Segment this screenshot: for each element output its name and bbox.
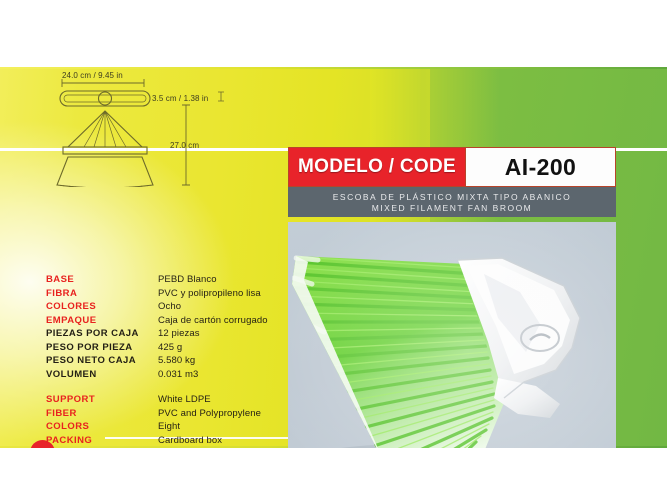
spec-label: SUPPORT	[46, 393, 158, 407]
subtitle-spanish: ESCOBA DE PLÁSTICO MIXTA TIPO ABANICO	[333, 192, 571, 202]
spec-value: PVC y polipropileno lisa	[158, 287, 261, 301]
spec-value: 425 g	[158, 341, 182, 355]
product-photo	[288, 222, 616, 448]
spec-value: PEBD Blanco	[158, 273, 217, 287]
spec-label: FIBER	[46, 407, 158, 421]
spec-row: COLORESOcho	[46, 300, 268, 314]
spec-row: FIBRAPVC y polipropileno lisa	[46, 287, 268, 301]
spec-value: Eight	[158, 420, 180, 434]
model-code-label: MODELO / CODE	[298, 156, 456, 178]
model-code-value: AI-200	[505, 154, 576, 181]
model-code-header: MODELO / CODE AI-200	[288, 147, 616, 187]
dimension-width-label: 24.0 cm / 9.45 in	[62, 71, 123, 80]
spec-row: FIBERPVC and Polypropylene	[46, 407, 261, 421]
subtitle-english: MIXED FILAMENT FAN BROOM	[372, 203, 533, 213]
spec-row: COLORSEight	[46, 420, 261, 434]
spec-value: 12 pieces	[158, 447, 200, 448]
spec-row: BASEPEBD Blanco	[46, 273, 268, 287]
spec-label: PIEZAS POR CAJA	[46, 327, 158, 341]
dimension-thickness-label: 3.5 cm / 1.38 in	[152, 94, 208, 103]
photo-highlight	[288, 222, 616, 448]
spec-row: EMPAQUECaja de cartón corrugado	[46, 314, 268, 328]
spec-label: PIECES PER BOX	[46, 447, 158, 448]
spec-label: PESO NETO CAJA	[46, 354, 158, 368]
spec-row: VOLUMEN0.031 m3	[46, 368, 268, 382]
spec-value: Ocho	[158, 300, 181, 314]
spec-row: SUPPORTWhite LDPE	[46, 393, 261, 407]
spec-label: COLORES	[46, 300, 158, 314]
spec-value: 5.580 kg	[158, 354, 195, 368]
spec-table-spanish: BASEPEBD Blanco FIBRAPVC y polipropileno…	[46, 273, 268, 381]
spec-row: PESO NETO CAJA5.580 kg	[46, 354, 268, 368]
spec-row: PIEZAS POR CAJA12 piezas	[46, 327, 268, 341]
product-spec-sheet: 24.0 cm / 9.45 in 3.5 cm / 1.38 in 27.0 …	[0, 0, 667, 500]
spec-label: PACKING	[46, 434, 158, 448]
spec-label: BASE	[46, 273, 158, 287]
spec-row: PACKINGCardboard box	[46, 434, 261, 448]
spec-label: COLORS	[46, 420, 158, 434]
spec-label: PESO POR PIEZA	[46, 341, 158, 355]
spec-value: Caja de cartón corrugado	[158, 314, 268, 328]
model-code-value-box: AI-200	[465, 148, 615, 186]
spec-value: White LDPE	[158, 393, 211, 407]
technical-drawing: 24.0 cm / 9.45 in 3.5 cm / 1.38 in 27.0 …	[22, 67, 262, 187]
model-code-label-box: MODELO / CODE	[289, 148, 465, 186]
spec-sheet-panel: 24.0 cm / 9.45 in 3.5 cm / 1.38 in 27.0 …	[0, 67, 667, 448]
spec-label: VOLUMEN	[46, 368, 158, 382]
spec-value: 0.031 m3	[158, 368, 198, 382]
spec-value: PVC and Polypropylene	[158, 407, 261, 421]
dimension-height-label: 27.0 cm	[170, 141, 199, 150]
spec-label: EMPAQUE	[46, 314, 158, 328]
spec-row: PESO POR PIEZA425 g	[46, 341, 268, 355]
spec-table-english: SUPPORTWhite LDPE FIBERPVC and Polypropy…	[46, 393, 261, 448]
spec-value: 12 piezas	[158, 327, 200, 341]
product-subtitle-bar: ESCOBA DE PLÁSTICO MIXTA TIPO ABANICO MI…	[288, 187, 616, 217]
spec-label: FIBRA	[46, 287, 158, 301]
spec-value: Cardboard box	[158, 434, 222, 448]
spec-row: PIECES PER BOX12 pieces	[46, 447, 261, 448]
